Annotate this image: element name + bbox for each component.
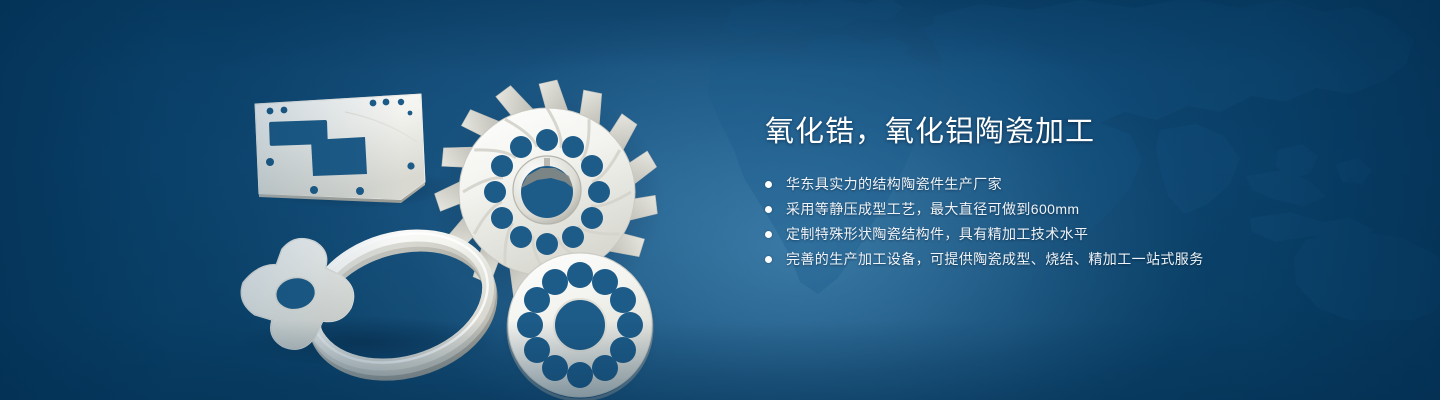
bullet-text: 采用等静压成型工艺，最大直径可做到600mm xyxy=(786,199,1079,219)
list-item: 采用等静压成型工艺，最大直径可做到600mm xyxy=(765,199,1385,219)
bullet-text: 定制特殊形状陶瓷结构件，具有精加工技术水平 xyxy=(786,224,1088,244)
bullet-dot-icon xyxy=(765,231,772,238)
page-title: 氧化锆，氧化铝陶瓷加工 xyxy=(765,112,1385,152)
list-item: 华东具实力的结构陶瓷件生产厂家 xyxy=(765,174,1385,194)
bullet-dot-icon xyxy=(765,181,772,188)
bullet-dot-icon xyxy=(765,256,772,263)
list-item: 定制特殊形状陶瓷结构件，具有精加工技术水平 xyxy=(765,224,1385,244)
banner-copy-block: 氧化锆，氧化铝陶瓷加工 华东具实力的结构陶瓷件生产厂家 采用等静压成型工艺，最大… xyxy=(765,112,1385,274)
ceramic-processing-banner: 氧化锆，氧化铝陶瓷加工 华东具实力的结构陶瓷件生产厂家 采用等静压成型工艺，最大… xyxy=(0,0,1440,400)
bullet-text: 华东具实力的结构陶瓷件生产厂家 xyxy=(786,174,1002,194)
feature-bullet-list: 华东具实力的结构陶瓷件生产厂家 采用等静压成型工艺，最大直径可做到600mm 定… xyxy=(765,174,1385,269)
bullet-dot-icon xyxy=(765,206,772,213)
list-item: 完善的生产加工设备，可提供陶瓷成型、烧结、精加工一站式服务 xyxy=(765,249,1385,269)
bullet-text: 完善的生产加工设备，可提供陶瓷成型、烧结、精加工一站式服务 xyxy=(786,249,1204,269)
